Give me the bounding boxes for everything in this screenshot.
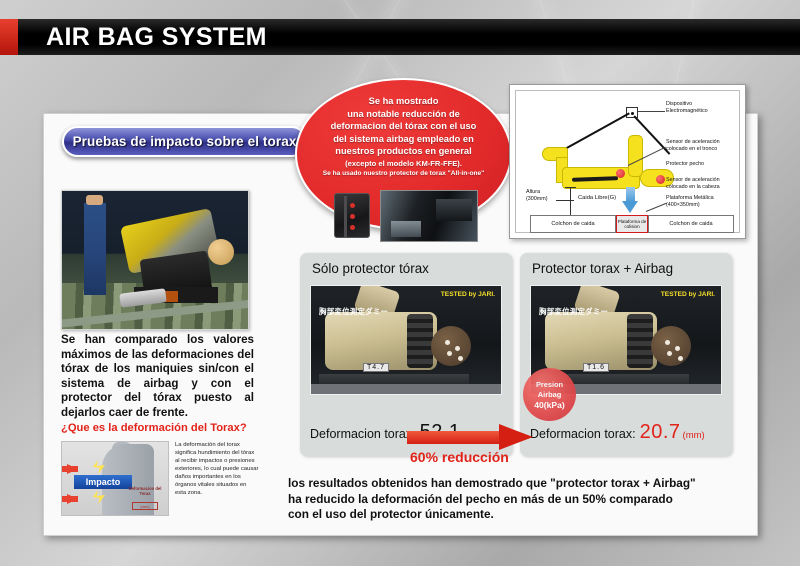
deformation-unit: (mm) [132,502,158,510]
collision-platform: Plataforma de colision [616,215,648,233]
conclusion-line-1: los resultados obtenidos han demostrado … [288,476,750,492]
drop-test-photo [61,190,249,330]
cushion-left: Colchon de caida [530,215,616,233]
impact-tag: Impacto [74,475,132,489]
page-title: AIR BAG SYSTEM [46,23,267,52]
label-trunk-sensor: Sensor de aceleración colocado en el tro… [666,139,720,153]
intro-paragraph: Se han comparado los valores máximos de … [61,333,254,421]
conclusion-line-2: ha reducido la deformación del pecho en … [288,492,750,508]
airbag-pressure-badge: Presion Airbag 40(kPa) [523,368,576,421]
label-head-sensor: Sensor de aceleración colocado en la cab… [666,177,720,191]
callout-line-1: Se ha mostrado [369,95,439,108]
leader-device [638,111,665,112]
timestamp-left: T4.7 [363,363,389,372]
label-chest-protector: Protector pecho [666,161,704,168]
pressure-line-2: Airbag [538,390,561,400]
question-heading: ¿Que es la deformación del Torax? [61,422,261,434]
comparison-panel-protector-airbag: Protector torax + Airbag TESTED by JARI.… [520,253,732,456]
comparison-left-video[interactable]: TESTED by JARI. 胸部変位測定ダミー T4.7 [310,285,502,395]
deformation-label: Deformacion del Torax [128,486,162,496]
section-pill-label: Pruebas de impacto sobre el torax [73,134,297,149]
jp-caption-right: 胸部変位測定ダミー [539,306,608,317]
tested-by-overlay-right: TESTED by JARI. [661,291,715,298]
reduction-label: 60% reducción [410,449,509,465]
height-dimension-line [570,187,571,215]
tested-by-overlay-left: TESTED by JARI. [441,291,495,298]
callout-note: (excepto el modelo KM-FR-FFE). [345,158,462,169]
title-bar: AIR BAG SYSTEM [0,19,800,55]
label-height: Altura (300mm) [526,189,548,203]
deformation-explanation-text: La deformación del torax significa hundi… [175,441,259,497]
section-pill-impact-tests[interactable]: Pruebas de impacto sobre el torax [62,126,307,157]
callout-line-2: una notable reducción de [347,108,460,121]
test-setup-diagram: Dispositivo Electromagnético Sensor de a… [509,84,746,239]
pressure-value: 40(kPa) [534,400,565,410]
trunk-sensor-dot [616,169,625,178]
result-right-value: 20.7 [640,421,681,444]
label-metal-platform: Plataforma Metálica (400×350mm) [666,195,714,209]
callout-line-5: nuestros productos en general [335,145,471,158]
airbag-equipment-photo [380,190,478,242]
deformation-explainer: Impacto Deformacion del Torax (mm) La de… [61,441,257,516]
comparison-right-title: Protector torax + Airbag [532,261,673,276]
result-right-label: Deformacion torax: [530,427,636,441]
callout-line-3: deformacion del tórax con el uso [331,120,477,133]
head-sensor-dot [656,175,665,184]
comparison-left-title: Sólo protector tórax [312,261,429,276]
pressure-line-1: Presion [536,380,563,390]
conclusion-text: los resultados obtenidos han demostrado … [288,476,750,523]
label-electromagnetic-device: Dispositivo Electromagnético [666,101,708,115]
title-red-accent [0,19,18,55]
label-free-fall: Caida Libre(G) [578,195,616,202]
result-left-label: Deformacion torax: [310,427,416,441]
conclusion-line-3: con el uso del protector únicamente. [288,507,750,523]
callout-subnote: Se ha usado nuestro protector de torax "… [323,169,485,179]
cushion-right: Colchon de caida [648,215,734,233]
chest-protector-product-photo [334,193,370,238]
fall-direction-arrow [622,187,639,213]
dummy-leg-shape [628,135,643,177]
callout-line-4: del sistema airbag empleado en [333,133,474,146]
reduction-arrow-icon [407,424,535,450]
result-right-unit: (mm) [683,430,705,441]
deformation-illustration: Impacto Deformacion del Torax (mm) [61,441,169,516]
result-right: Deformacion torax: 20.7 (mm) [530,421,705,444]
jp-caption-left: 胸部変位測定ダミー [319,306,388,317]
timestamp-right: T1.6 [583,363,609,372]
